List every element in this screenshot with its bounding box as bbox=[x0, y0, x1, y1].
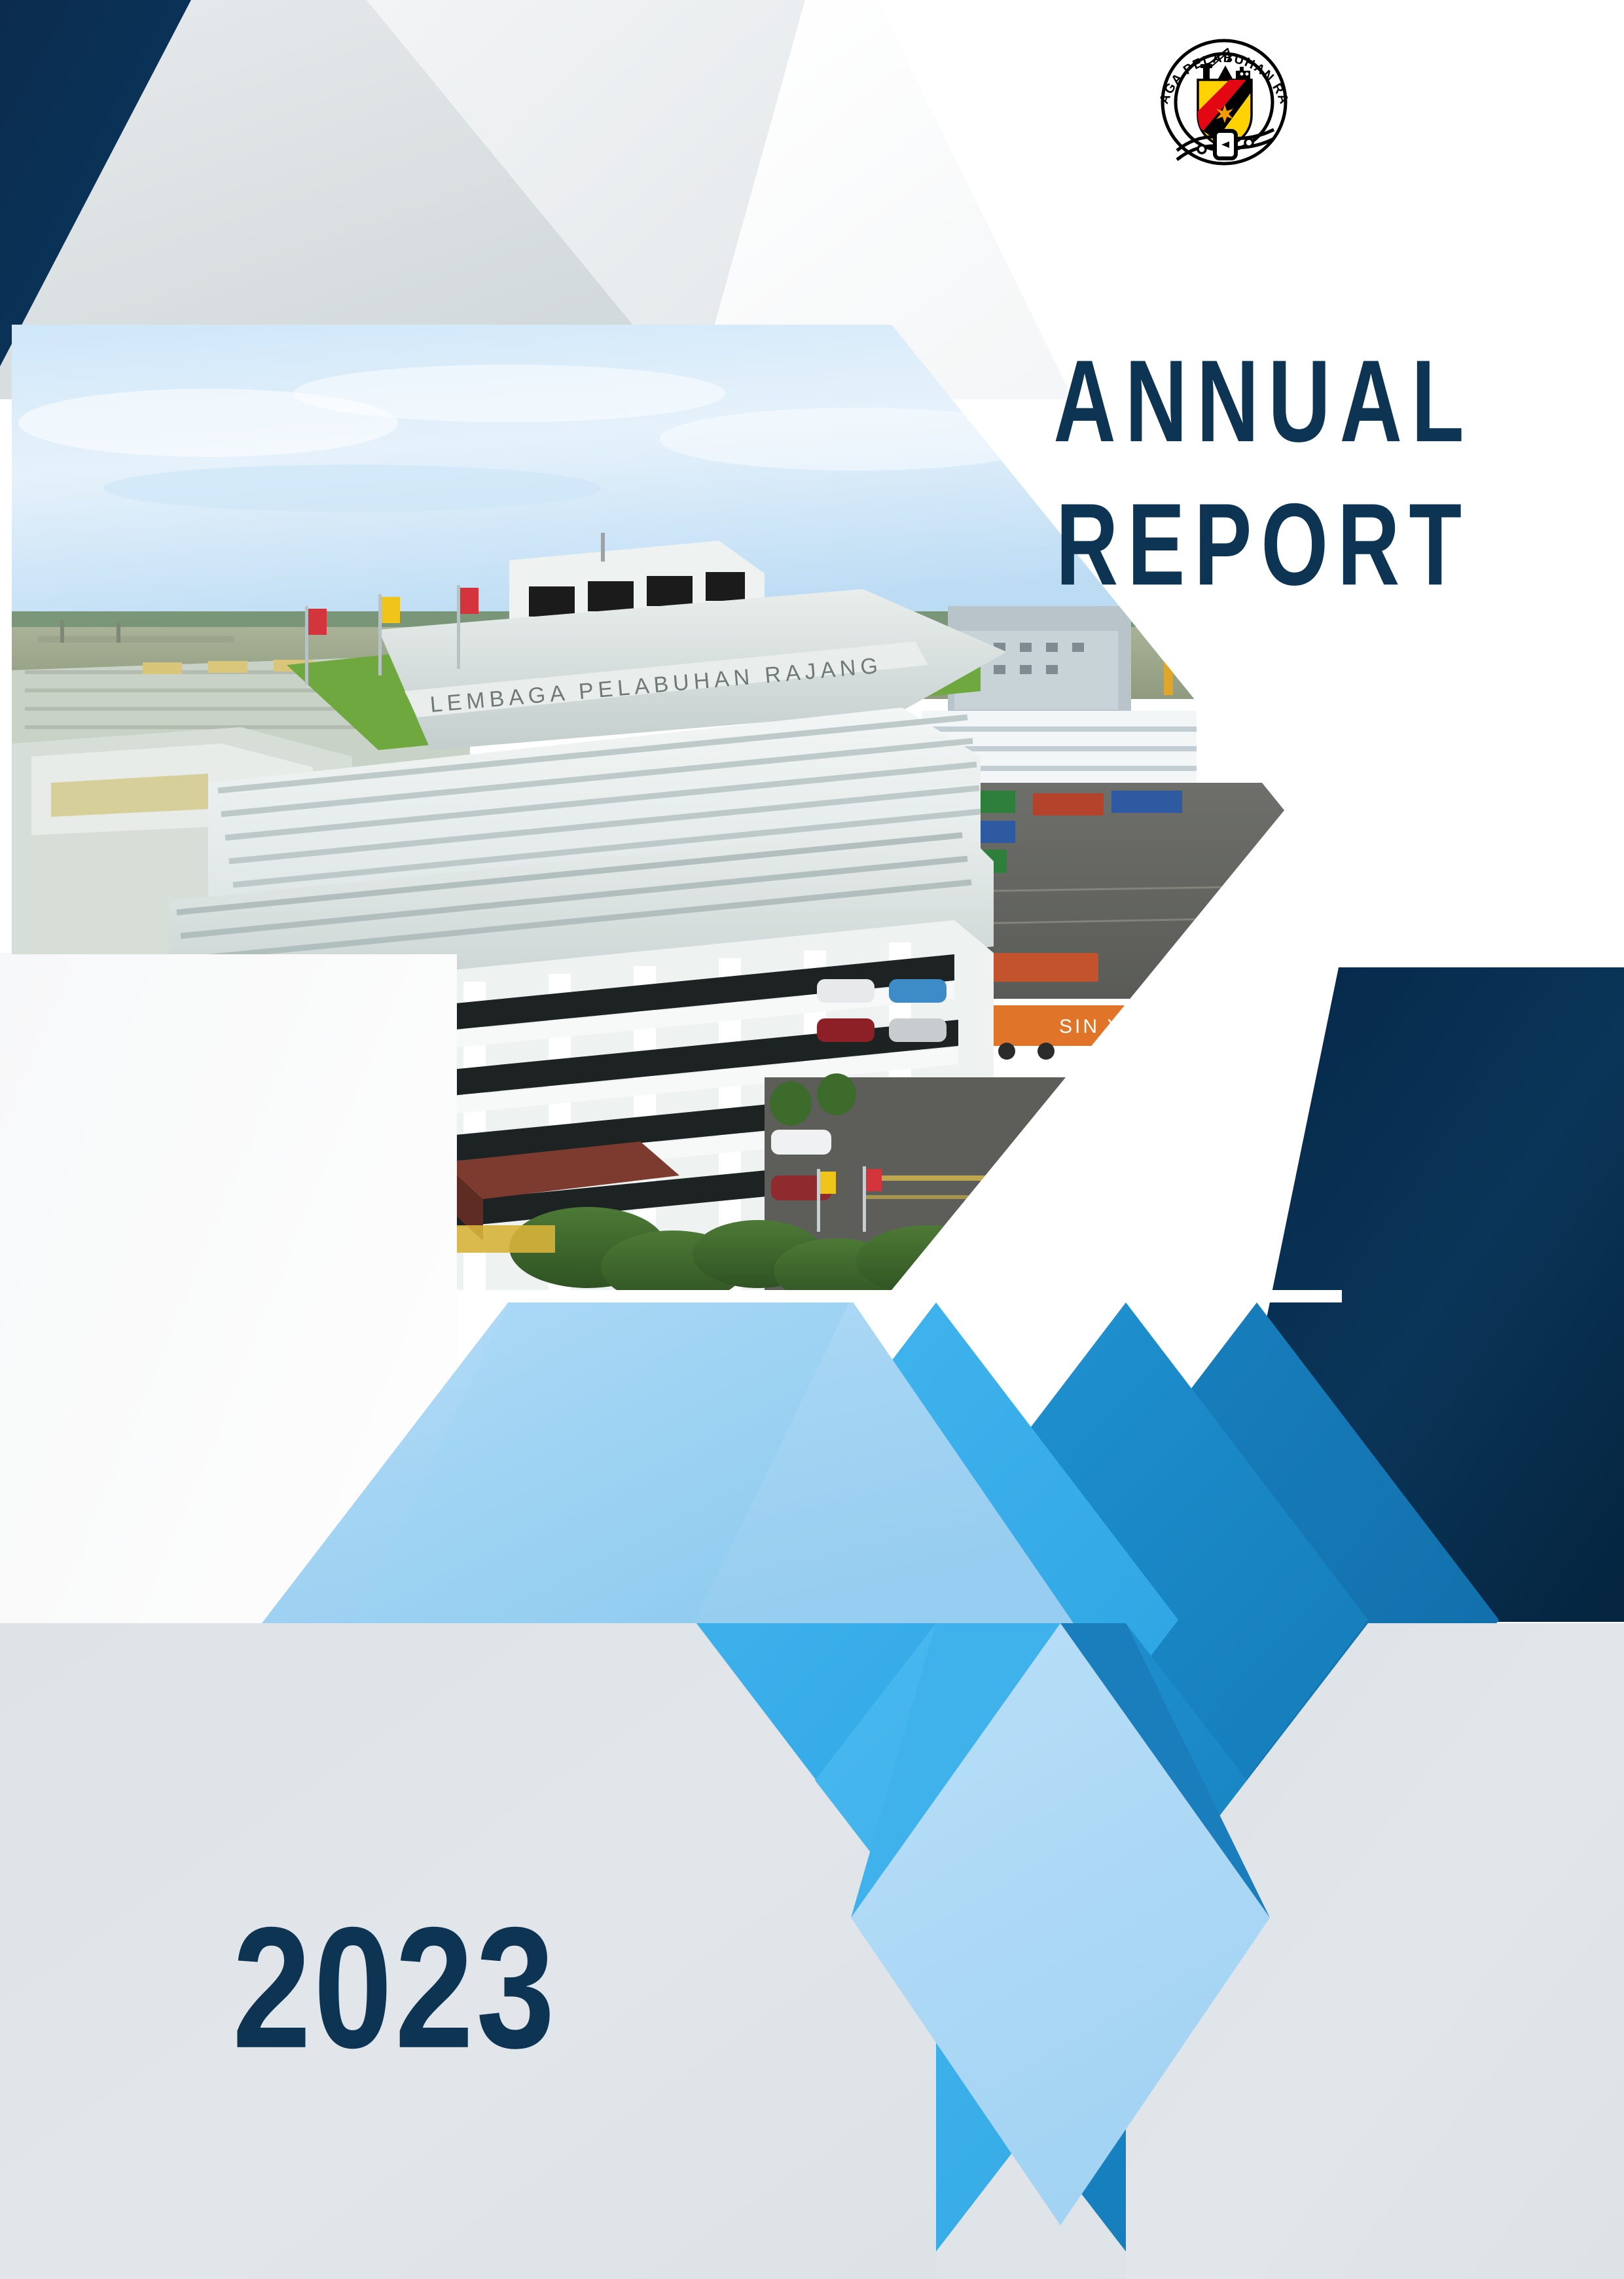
photo-cloud bbox=[103, 465, 601, 512]
ribbon-eyelet bbox=[1245, 139, 1253, 147]
photo-jetty-post bbox=[117, 623, 120, 643]
organization-logo: LEMBAGA PELABUHAN RAJANG bbox=[1152, 31, 1296, 175]
annual-report-cover-page: SIN YANG LEMBAGA PELABUHAN R bbox=[0, 0, 1624, 2279]
photo-container-road bbox=[987, 953, 1098, 982]
photo-cloud bbox=[293, 365, 725, 422]
ribbon-eyelet bbox=[1198, 145, 1206, 153]
shape-white-gap-under-photo bbox=[458, 1290, 1342, 1302]
photo-jetty bbox=[38, 636, 234, 643]
photo-jetty-post bbox=[60, 620, 64, 643]
photo-truck-wheel bbox=[1038, 1043, 1055, 1060]
photo-antenna bbox=[601, 533, 605, 562]
photo-truck-wheel bbox=[998, 1043, 1015, 1060]
cover-year: 2023 bbox=[232, 1888, 558, 2087]
